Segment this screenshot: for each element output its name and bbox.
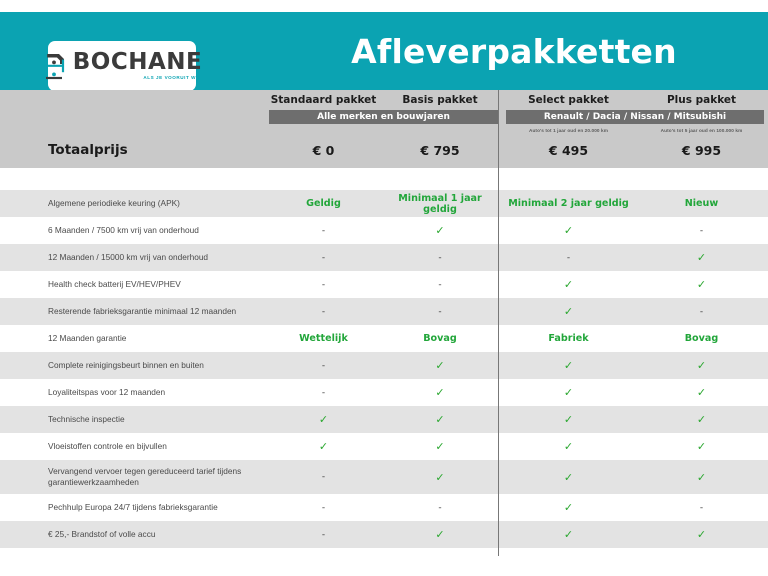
column-header-standaard: Standaard pakket xyxy=(265,94,382,110)
afleverpakketten-page: BOCHANE ALS JE VOORUIT WIL Afleverpakket… xyxy=(0,0,768,576)
table-row: Health check batterij EV/HEV/PHEV--✓✓ xyxy=(0,271,768,298)
cell-6-2: ✓ xyxy=(502,359,635,372)
cell-5-1: Bovag xyxy=(382,333,498,344)
header-spacer xyxy=(0,94,265,110)
row-label: Technische inspectie xyxy=(0,414,265,425)
cell-12-3: ✓ xyxy=(635,528,768,541)
cell-1-0: - xyxy=(265,226,382,236)
price-select: € 495 xyxy=(502,143,635,158)
cell-10-0: - xyxy=(265,472,382,482)
cell-4-1: - xyxy=(382,307,498,317)
row-label: Resterende fabrieksgarantie minimaal 12 … xyxy=(0,306,265,317)
table-row: 12 Maanden garantieWettelijkBovagFabriek… xyxy=(0,325,768,352)
table-row: Complete reinigingsbeurt binnen en buite… xyxy=(0,352,768,379)
table-footer-space xyxy=(0,548,768,576)
cell-7-2: ✓ xyxy=(502,386,635,399)
row-label: Health check batterij EV/HEV/PHEV xyxy=(0,279,265,290)
column-group-divider xyxy=(498,90,499,556)
cell-8-2: ✓ xyxy=(502,413,635,426)
bochane-mark-icon xyxy=(42,51,68,81)
cell-1-3: - xyxy=(635,226,768,236)
cell-7-3: ✓ xyxy=(635,386,768,399)
row-label: 12 Maanden / 15000 km vrij van onderhoud xyxy=(0,252,265,263)
cell-1-2: ✓ xyxy=(502,224,635,237)
brandbar-spacer xyxy=(0,110,265,125)
cell-8-3: ✓ xyxy=(635,413,768,426)
cell-12-0: - xyxy=(265,530,382,540)
cell-3-3: ✓ xyxy=(635,278,768,291)
row-label: Vloeistoffen controle en bijvullen xyxy=(0,441,265,452)
cell-8-0: ✓ xyxy=(265,413,382,426)
cell-9-1: ✓ xyxy=(382,440,498,453)
logo-tagline: ALS JE VOORUIT WIL xyxy=(143,76,201,81)
subnote-standaard xyxy=(265,125,382,137)
cell-7-0: - xyxy=(265,388,382,398)
cell-9-0: ✓ xyxy=(265,440,382,453)
cell-9-2: ✓ xyxy=(502,440,635,453)
table-row: Vervangend vervoer tegen gereduceerd tar… xyxy=(0,460,768,494)
cell-2-1: - xyxy=(382,253,498,263)
cell-11-3: - xyxy=(635,503,768,513)
subnote-plus: Auto's tot 5 jaar oud en 100.000 km xyxy=(635,125,768,137)
table-body: Algemene periodieke keuring (APK)GeldigM… xyxy=(0,190,768,548)
table-row: Loyaliteitspas voor 12 maanden-✓✓✓ xyxy=(0,379,768,406)
total-price-row: Totaalprijs € 0 € 795 € 495 € 995 xyxy=(0,137,768,163)
cell-0-3: Nieuw xyxy=(635,198,768,209)
cell-3-0: - xyxy=(265,280,382,290)
cell-5-2: Fabriek xyxy=(502,333,635,344)
cell-6-0: - xyxy=(265,361,382,371)
logo-text: BOCHANE ALS JE VOORUIT WIL xyxy=(73,51,202,81)
totaalprijs-label: Totaalprijs xyxy=(0,142,265,158)
column-header-basis: Basis pakket xyxy=(382,94,498,110)
cell-4-2: ✓ xyxy=(502,305,635,318)
table-row: Pechhulp Europa 24/7 tijdens fabrieksgar… xyxy=(0,494,768,521)
price-basis: € 795 xyxy=(382,143,498,158)
row-label: Algemene periodieke keuring (APK) xyxy=(0,198,265,209)
cell-0-2: Minimaal 2 jaar geldig xyxy=(502,198,635,209)
cell-5-0: Wettelijk xyxy=(265,333,382,344)
price-plus: € 995 xyxy=(635,143,768,158)
logo-wordmark: BOCHANE xyxy=(73,51,202,74)
cell-10-1: ✓ xyxy=(382,471,498,484)
table-row: Technische inspectie✓✓✓✓ xyxy=(0,406,768,433)
cell-9-3: ✓ xyxy=(635,440,768,453)
table-header: Standaard pakket Basis pakket Select pak… xyxy=(0,90,768,168)
cell-4-0: - xyxy=(265,307,382,317)
cell-10-3: ✓ xyxy=(635,471,768,484)
table-row: Algemene periodieke keuring (APK)GeldigM… xyxy=(0,190,768,217)
cell-11-2: ✓ xyxy=(502,501,635,514)
brandbar-renault-dacia-nissan-mitsubishi: Renault / Dacia / Nissan / Mitsubishi xyxy=(506,110,764,124)
cell-2-2: - xyxy=(502,253,635,263)
cell-5-3: Bovag xyxy=(635,333,768,344)
row-label: Pechhulp Europa 24/7 tijdens fabrieksgar… xyxy=(0,502,265,513)
cell-11-1: - xyxy=(382,503,498,513)
page-header: BOCHANE ALS JE VOORUIT WIL Afleverpakket… xyxy=(0,12,768,90)
row-label: 12 Maanden garantie xyxy=(0,333,265,344)
row-label: € 25,- Brandstof of volle accu xyxy=(0,529,265,540)
packages-comparison-table: Standaard pakket Basis pakket Select pak… xyxy=(0,90,768,556)
table-row: Vloeistoffen controle en bijvullen✓✓✓✓ xyxy=(0,433,768,460)
bochane-logo[interactable]: BOCHANE ALS JE VOORUIT WIL xyxy=(48,41,196,91)
brandbar-left-wrap: Alle merken en bouwjaren xyxy=(265,110,498,125)
package-name-row: Standaard pakket Basis pakket Select pak… xyxy=(0,90,768,110)
cell-10-2: ✓ xyxy=(502,471,635,484)
header-body-spacer xyxy=(0,168,768,190)
cell-12-1: ✓ xyxy=(382,528,498,541)
package-subnote-row: Auto's tot 1 jaar oud en 20.000 km Auto'… xyxy=(0,125,768,137)
row-label: Vervangend vervoer tegen gereduceerd tar… xyxy=(0,466,265,488)
column-header-plus: Plus pakket xyxy=(635,94,768,110)
page-title: Afleverpakketten xyxy=(260,12,768,90)
table-row: Resterende fabrieksgarantie minimaal 12 … xyxy=(0,298,768,325)
cell-3-1: - xyxy=(382,280,498,290)
subnote-select: Auto's tot 1 jaar oud en 20.000 km xyxy=(502,125,635,137)
cell-6-3: ✓ xyxy=(635,359,768,372)
cell-2-3: ✓ xyxy=(635,251,768,264)
cell-2-0: - xyxy=(265,253,382,263)
table-row: 6 Maanden / 7500 km vrij van onderhoud-✓… xyxy=(0,217,768,244)
cell-6-1: ✓ xyxy=(382,359,498,372)
brand-scope-row: Alle merken en bouwjaren Renault / Dacia… xyxy=(0,110,768,125)
row-label: 6 Maanden / 7500 km vrij van onderhoud xyxy=(0,225,265,236)
subnote-spacer xyxy=(0,125,265,137)
cell-8-1: ✓ xyxy=(382,413,498,426)
cell-11-0: - xyxy=(265,503,382,513)
cell-0-1: Minimaal 1 jaar geldig xyxy=(382,193,498,215)
table-row: € 25,- Brandstof of volle accu-✓✓✓ xyxy=(0,521,768,548)
cell-7-1: ✓ xyxy=(382,386,498,399)
row-label: Complete reinigingsbeurt binnen en buite… xyxy=(0,360,265,371)
brandbar-alle-merken: Alle merken en bouwjaren xyxy=(269,110,498,124)
row-label: Loyaliteitspas voor 12 maanden xyxy=(0,387,265,398)
cell-1-1: ✓ xyxy=(382,224,498,237)
brandbar-right-wrap: Renault / Dacia / Nissan / Mitsubishi xyxy=(502,110,768,125)
cell-3-2: ✓ xyxy=(502,278,635,291)
cell-0-0: Geldig xyxy=(265,198,382,209)
cell-12-2: ✓ xyxy=(502,528,635,541)
price-standaard: € 0 xyxy=(265,143,382,158)
column-header-select: Select pakket xyxy=(502,94,635,110)
subnote-basis xyxy=(382,125,498,137)
table-row: 12 Maanden / 15000 km vrij van onderhoud… xyxy=(0,244,768,271)
cell-4-3: - xyxy=(635,307,768,317)
